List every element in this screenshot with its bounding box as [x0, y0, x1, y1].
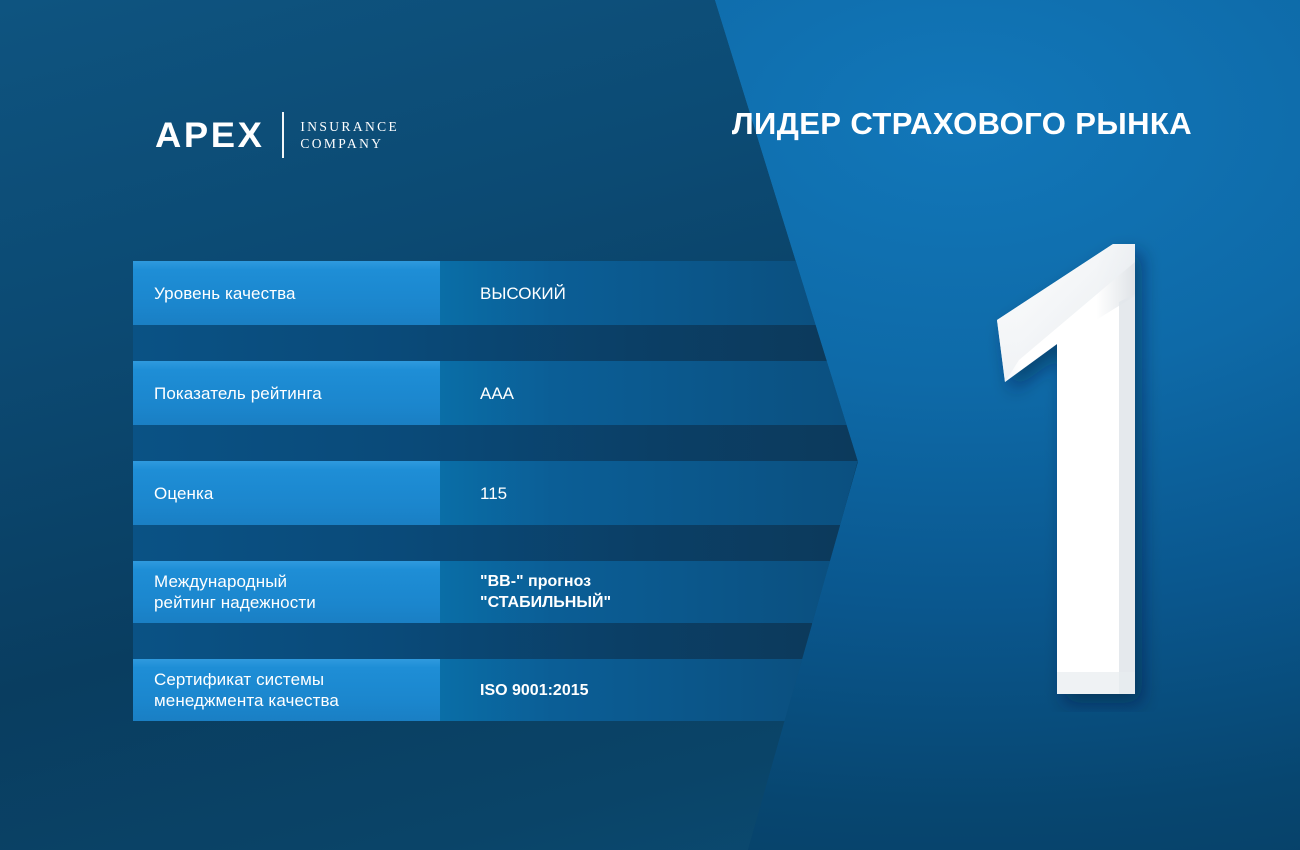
row-value-text: AAA	[480, 383, 514, 404]
row-label-text: Показатель рейтинга	[154, 383, 322, 404]
row-value-text: 115	[480, 483, 507, 504]
row-label-block: Показатель рейтинга	[133, 361, 440, 425]
page-title: ЛИДЕР СТРАХОВОГО РЫНКА	[672, 104, 1192, 143]
row-value-cell: ВЫСОКИЙ	[440, 261, 566, 325]
poster-canvas: Уровень качестваВЫСОКИЙПоказатель рейтин…	[0, 0, 1300, 850]
row-value-text: ВЫСОКИЙ	[480, 283, 566, 304]
row-label-block: Международныйрейтинг надежности	[133, 561, 440, 623]
row-label-block: Уровень качества	[133, 261, 440, 325]
rank-numeral-one	[985, 232, 1185, 712]
brand-logo: APEX INSURANCE COMPANY	[155, 112, 399, 158]
row-value-text: "BB-" прогноз"СТАБИЛЬНЫЙ"	[480, 571, 611, 613]
row-label-text: Международныйрейтинг надежности	[154, 571, 316, 613]
table-row[interactable]: Уровень качестваВЫСОКИЙ	[133, 261, 816, 325]
row-label-block: Сертификат системыменеджмента качества	[133, 659, 440, 721]
row-gap-band	[133, 325, 827, 361]
logo-divider	[282, 112, 284, 158]
row-value-cell: "BB-" прогноз"СТАБИЛЬНЫЙ"	[440, 561, 611, 623]
brand-subtitle-line1: INSURANCE	[300, 118, 399, 135]
row-value-cell: 115	[440, 461, 507, 525]
row-gap-band	[133, 623, 812, 659]
table-row[interactable]: Сертификат системыменеджмента качестваIS…	[133, 659, 802, 721]
row-gap-band	[133, 425, 858, 461]
row-value-cell: AAA	[440, 361, 514, 425]
brand-subtitle: INSURANCE COMPANY	[300, 118, 399, 152]
table-row[interactable]: Международныйрейтинг надежности"BB-" про…	[133, 561, 830, 623]
row-gap-band	[133, 525, 840, 561]
brand-subtitle-line2: COMPANY	[300, 135, 399, 152]
row-label-text: Уровень качества	[154, 283, 296, 304]
table-row[interactable]: Показатель рейтингаAAA	[133, 361, 847, 425]
row-label-text: Оценка	[154, 483, 213, 504]
row-value-cell: ISO 9001:2015	[440, 659, 589, 721]
brand-name: APEX	[155, 118, 265, 153]
row-value-text: ISO 9001:2015	[480, 680, 589, 701]
row-label-block: Оценка	[133, 461, 440, 525]
table-row[interactable]: Оценка115	[133, 461, 858, 525]
row-label-text: Сертификат системыменеджмента качества	[154, 669, 339, 711]
